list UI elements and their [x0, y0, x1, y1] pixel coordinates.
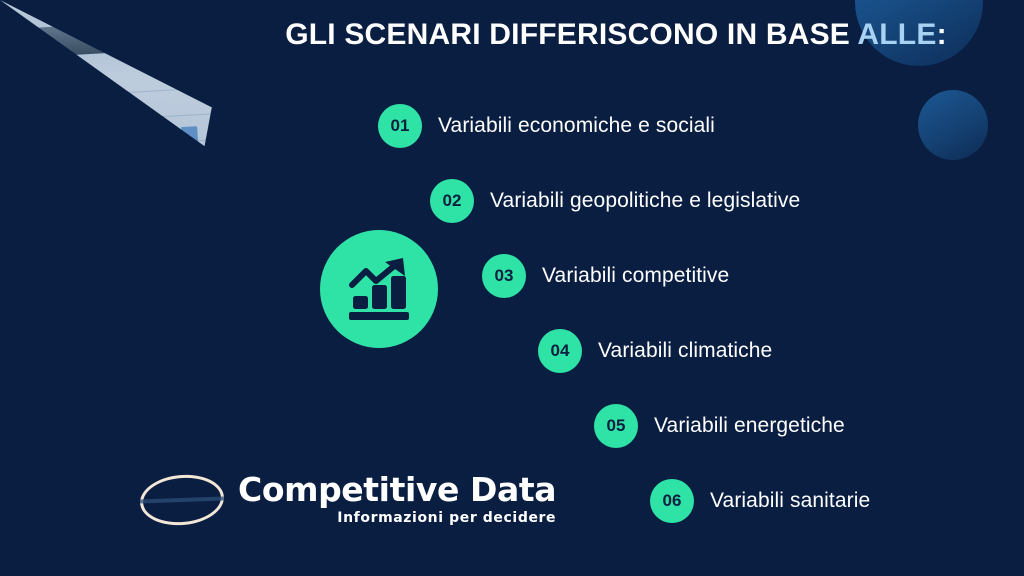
list-item-label-02: Variabili geopolitiche e legislative [490, 189, 800, 213]
title-main-text: GLI SCENARI DIFFERISCONO IN BASE [285, 18, 857, 51]
badge-number-02: 02 [430, 179, 474, 223]
badge-number-01: 01 [378, 104, 422, 148]
decor-circle-top-right-small [918, 90, 988, 160]
title-colon: : [937, 18, 947, 51]
list-item-03[interactable]: 03 Variabili competitive [482, 254, 729, 298]
logo-text-block: Competitive Data Informazioni per decide… [238, 473, 556, 526]
logo-ellipse-icon [138, 471, 226, 528]
list-item-label-05: Variabili energetiche [654, 414, 845, 438]
list-item-04[interactable]: 04 Variabili climatiche [538, 329, 772, 373]
list-item-label-06: Variabili sanitarie [710, 489, 870, 513]
growth-chart-icon [320, 230, 438, 348]
list-item-02[interactable]: 02 Variabili geopolitiche e legislative [430, 179, 800, 223]
title-highlight-text: ALLE [857, 18, 936, 51]
slide-root: Business income [0, 0, 1024, 576]
list-item-label-01: Variabili economiche e sociali [438, 114, 715, 138]
badge-number-04: 04 [538, 329, 582, 373]
logo-name: Competitive Data [238, 473, 556, 506]
list-item-label-03: Variabili competitive [542, 264, 729, 288]
logo-tagline: Informazioni per decidere [238, 510, 556, 526]
logo[interactable]: Competitive Data Informazioni per decide… [140, 473, 556, 526]
page-title: GLI SCENARI DIFFERISCONO IN BASE ALLE: [236, 18, 996, 52]
list-item-01[interactable]: 01 Variabili economiche e sociali [378, 104, 715, 148]
list-item-06[interactable]: 06 Variabili sanitarie [650, 479, 870, 523]
badge-number-05: 05 [594, 404, 638, 448]
badge-number-03: 03 [482, 254, 526, 298]
badge-number-06: 06 [650, 479, 694, 523]
list-item-label-04: Variabili climatiche [598, 339, 772, 363]
list-item-05[interactable]: 05 Variabili energetiche [594, 404, 845, 448]
